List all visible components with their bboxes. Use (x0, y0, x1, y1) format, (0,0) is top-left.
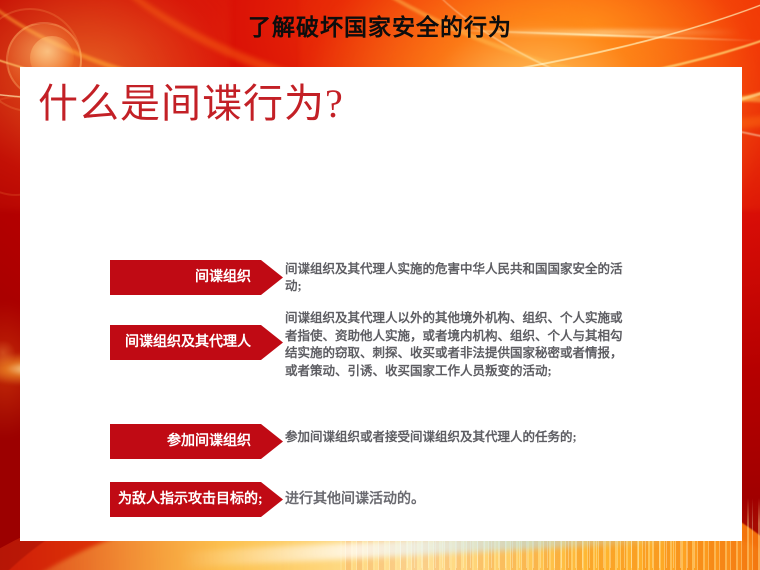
content-panel: 什么是间谍行为? 间谍组织 间谍组织及其代理人实施的危害中华人民共和国国家安全的… (20, 67, 742, 541)
arrow-label-text: 为敌人指示攻击目标的; (110, 491, 283, 509)
arrow-label-chip[interactable]: 间谍组织及其代理人 (110, 325, 283, 360)
definition-text: 间谍组织及其代理人实施的危害中华人民共和国国家安全的活动; (285, 261, 625, 295)
definition-text: 间谍组织及其代理人以外的其他境外机构、组织、个人实施或者指使、资助他人实施，或者… (285, 310, 625, 380)
arrow-label-text: 参加间谍组织 (110, 433, 283, 451)
definition-list: 间谍组织 间谍组织及其代理人实施的危害中华人民共和国国家安全的活动; 间谍组织及… (20, 67, 742, 541)
arrow-label-text: 间谍组织及其代理人 (110, 334, 283, 352)
arrow-label-text: 间谍组织 (110, 269, 283, 287)
slide-canvas: 了解破坏国家安全的行为 什么是间谍行为? 间谍组织 间谍组织及其代理人实施的危害… (0, 0, 760, 570)
slide-top-title: 了解破坏国家安全的行为 (0, 13, 760, 43)
definition-text: 参加间谍组织或者接受间谍组织及其代理人的任务的; (285, 429, 625, 446)
arrow-label-chip[interactable]: 参加间谍组织 (110, 424, 283, 459)
definition-text: 进行其他间谍活动的。 (285, 490, 625, 509)
arrow-label-chip[interactable]: 间谍组织 (110, 260, 283, 295)
arrow-label-chip[interactable]: 为敌人指示攻击目标的; (110, 482, 283, 517)
